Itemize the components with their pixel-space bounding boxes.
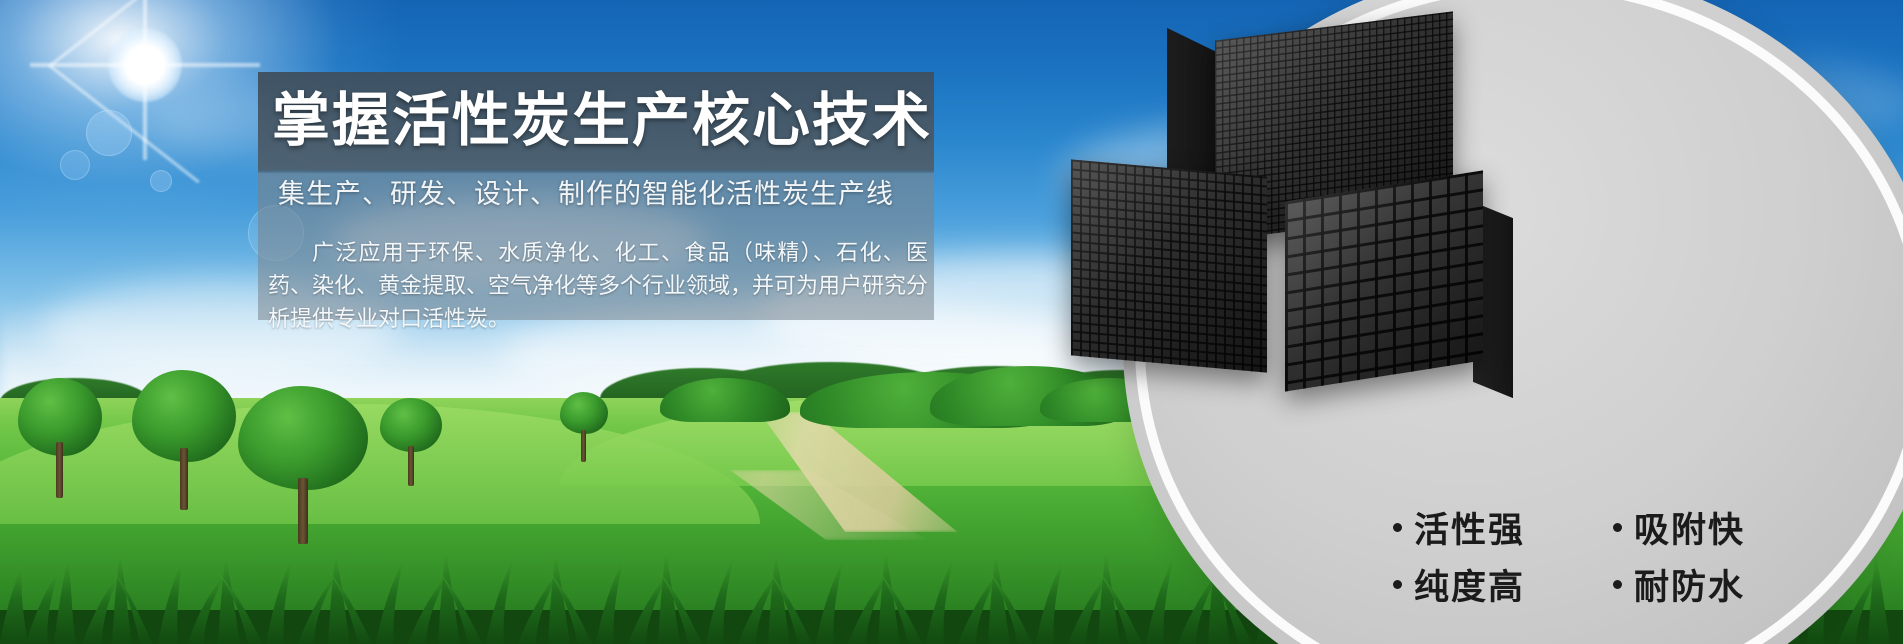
tree-trunk [180,448,188,510]
lens-flare-icon [150,170,172,192]
honeycomb-block-right [1285,170,1483,391]
feature-label: 耐防水 [1634,559,1745,610]
description-paragraph: 广泛应用于环保、水质净化、化工、食品（味精）、石化、医药、染化、黄金提取、空气净… [268,236,928,335]
tree-crown [380,398,442,452]
feature-item-waterproof: 耐防水 [1613,559,1795,610]
tree-trunk [581,430,586,462]
feature-label: 吸附快 [1634,502,1745,553]
block-highlight [1071,159,1267,372]
tree-trunk [408,446,414,486]
bullet-dot-icon [1613,580,1622,589]
feature-list: 活性强 吸附快 纯度高 耐防水 [1393,502,1813,610]
sun-ray-vertical [143,0,147,160]
feature-item-activity: 活性强 [1393,502,1575,553]
bullet-dot-icon [1613,523,1622,532]
feature-item-adsorption: 吸附快 [1613,502,1795,553]
bullet-dot-icon [1393,580,1402,589]
tree-trunk [56,442,63,498]
block-highlight [1285,170,1483,391]
lens-flare-icon [60,150,90,180]
honeycomb-block-left [1071,159,1267,372]
feature-item-purity: 纯度高 [1393,559,1575,610]
lens-flare-icon [86,110,132,156]
page-title: 掌握活性炭生产核心技术 [272,78,932,164]
subtitle: 集生产、研发、设计、制作的智能化活性炭生产线 [278,175,928,213]
tree-crown [560,392,608,434]
bullet-dot-icon [1393,523,1402,532]
product-image-group [1053,20,1573,420]
promotional-banner: 掌握活性炭生产核心技术 集生产、研发、设计、制作的智能化活性炭生产线 广泛应用于… [0,0,1903,644]
tree-crown [238,386,368,490]
feature-label: 纯度高 [1414,559,1525,610]
feature-label: 活性强 [1414,502,1525,553]
